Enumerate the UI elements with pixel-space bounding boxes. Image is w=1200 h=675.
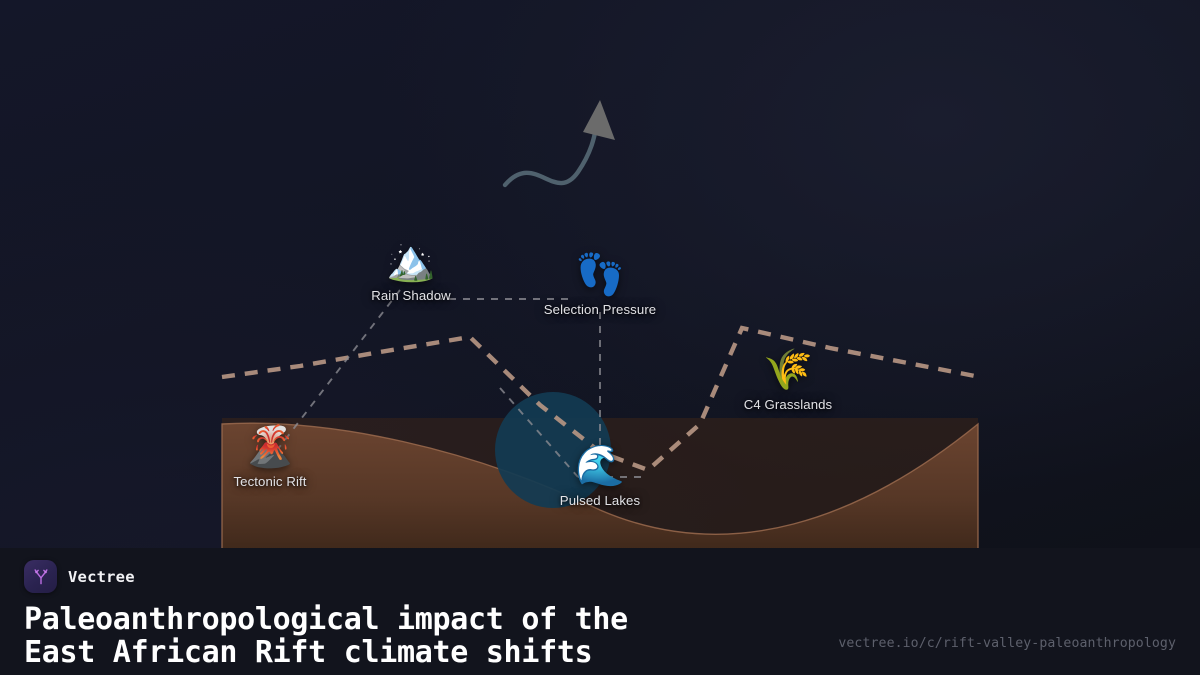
volcano-emoji: 🌋 [245,427,295,467]
brand-name: Vectree [68,568,135,586]
brand-lockup: Vectree [24,560,135,593]
node-tectonic-rift[interactable]: 🌋Tectonic Rift [233,427,306,489]
vectree-v-tree-icon [24,560,57,593]
infographic-canvas: 🏔️Rain Shadow👣Selection Pressure🌾C4 Gras… [0,0,1200,675]
mountain-emoji: 🏔️ [386,241,436,281]
wave-emoji: 🌊 [575,446,625,486]
growth-arrow [505,100,615,185]
node-selection-pressure[interactable]: 👣Selection Pressure [544,255,656,317]
node-label-rain-shadow: Rain Shadow [371,288,451,303]
page-title-line-2: East African Rift climate shifts [24,635,592,670]
node-rain-shadow[interactable]: 🏔️Rain Shadow [371,241,451,303]
source-url: vectree.io/c/rift-valley-paleoanthropolo… [838,636,1176,651]
page-title-line-1: Paleoanthropological impact of the [24,602,628,637]
node-label-selection-pressure: Selection Pressure [544,302,656,317]
footprints-emoji: 👣 [575,255,625,295]
grain-sheaf-emoji: 🌾 [763,350,813,390]
footer-bar: Vectree Paleoanthropological impact of t… [0,548,1200,675]
node-label-pulsed-lakes: Pulsed Lakes [560,493,640,508]
node-c4-grasslands[interactable]: 🌾C4 Grasslands [744,350,833,412]
node-label-tectonic-rift: Tectonic Rift [233,474,306,489]
page-title: Paleoanthropological impact of the East … [24,603,628,670]
node-pulsed-lakes[interactable]: 🌊Pulsed Lakes [560,446,640,508]
node-label-c4-grasslands: C4 Grasslands [744,397,833,412]
